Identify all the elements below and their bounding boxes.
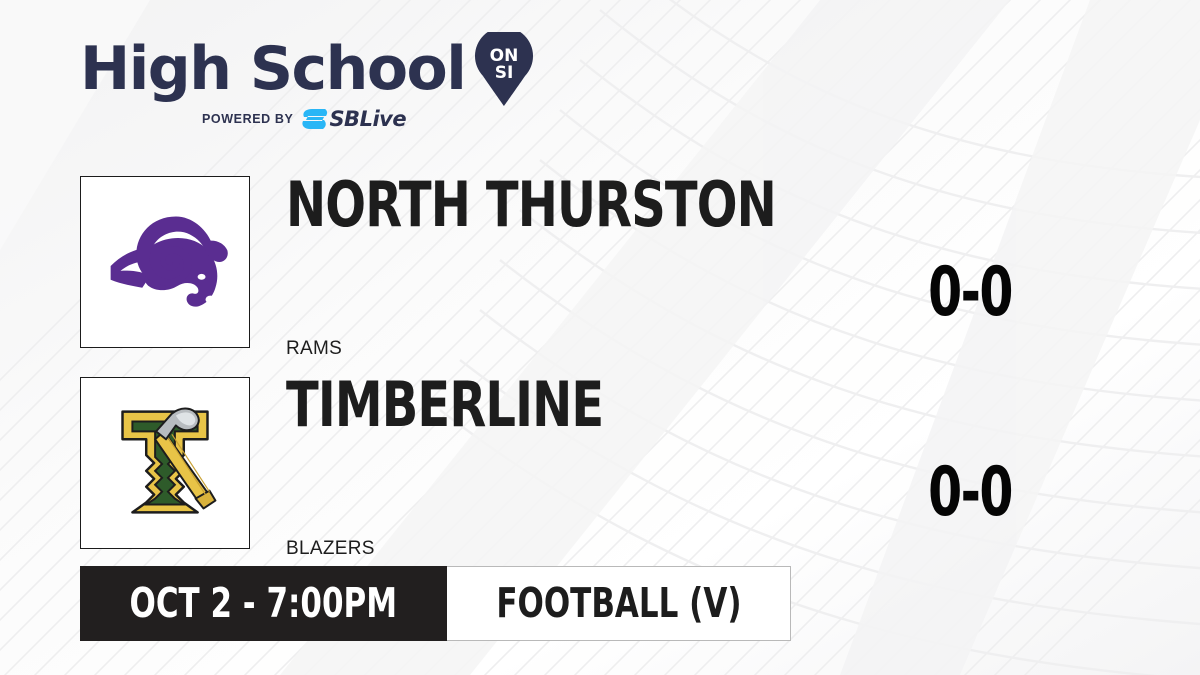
brand-row: High School ON SI [80,34,510,104]
team-logo-north-thurston [80,176,250,348]
team-record-primary: 0-0 [882,259,1058,327]
on-si-pin-icon: ON SI [475,32,533,106]
sblive-s-icon [302,108,328,130]
game-sport-chip: FOOTBALL (V) [447,566,792,641]
timberline-t-axe-logo-icon [81,378,249,548]
powered-by-label: POWERED BY [202,112,293,126]
game-sport-text: FOOTBALL (V) [496,583,741,624]
team-name-primary: NORTH THURSTON [286,174,776,236]
game-datetime-chip: OCT 2 - 7:00PM [80,566,447,641]
powered-by-row: POWERED BY SBLive [80,108,510,130]
game-datetime-text: OCT 2 - 7:00PM [129,583,397,624]
brand-wordmark: High School [80,39,465,99]
team-logo-timberline [80,377,250,549]
team-nickname-primary: RAMS [286,339,342,358]
brand-logo: High School ON SI POWERED BY SBLive [80,34,510,139]
team-record-secondary: 0-0 [882,459,1058,527]
team-nickname-secondary: BLAZERS [286,539,375,558]
pin-bottom-text: SI [495,63,514,83]
sblive-logo: SBLive [302,108,406,130]
ram-head-logo-icon [81,177,249,347]
team-name-secondary: TIMBERLINE [286,374,603,436]
sblive-wordmark: SBLive [329,109,406,130]
game-info-bar: OCT 2 - 7:00PM FOOTBALL (V) [80,566,791,641]
